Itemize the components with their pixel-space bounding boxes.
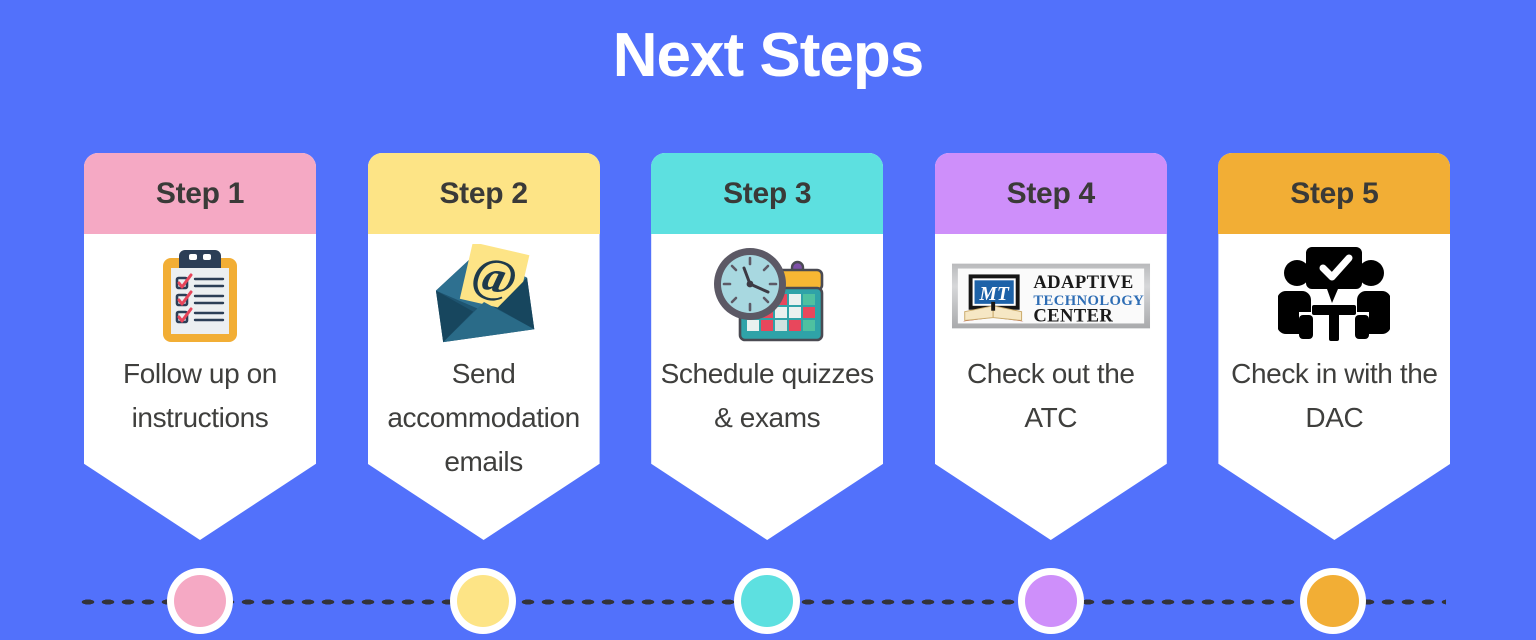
card-caption: Schedule quizzes & exams bbox=[659, 352, 875, 440]
icon-slot: MT ADAPTIVE TECHNOLOGY CENTER bbox=[951, 244, 1151, 348]
timeline-dot-fill bbox=[457, 575, 509, 627]
step-card-1[interactable]: Step 1 bbox=[84, 153, 316, 543]
step-card-3[interactable]: Step 3 bbox=[651, 153, 883, 543]
card-body-3: Schedule quizzes & exams bbox=[651, 234, 883, 440]
adaptive-technology-center-logo: MT ADAPTIVE TECHNOLOGY CENTER bbox=[951, 262, 1151, 330]
step-label: Step 2 bbox=[439, 177, 527, 211]
step-label: Step 4 bbox=[1007, 177, 1095, 211]
timeline-dot-fill bbox=[741, 575, 793, 627]
logo-line-1: ADAPTIVE bbox=[1033, 272, 1133, 293]
card-header-2: Step 2 bbox=[368, 153, 600, 234]
card-header-3: Step 3 bbox=[651, 153, 883, 234]
card-header-1: Step 1 bbox=[84, 153, 316, 234]
timeline bbox=[0, 560, 1536, 640]
svg-text:MT: MT bbox=[978, 284, 1009, 305]
icon-slot bbox=[100, 244, 300, 348]
step-card-5[interactable]: Step 5 bbox=[1218, 153, 1450, 543]
logo-line-3: CENTER bbox=[1033, 305, 1113, 326]
card-caption: Check in with the DAC bbox=[1226, 352, 1442, 440]
step-card-2[interactable]: Step 2 @ bbox=[368, 153, 600, 543]
clipboard-checklist-icon bbox=[157, 246, 243, 346]
card-header-5: Step 5 bbox=[1218, 153, 1450, 234]
step-label: Step 3 bbox=[723, 177, 811, 211]
card-caption: Follow up on instructions bbox=[92, 352, 308, 440]
timeline-dot-3[interactable] bbox=[734, 568, 800, 634]
card-body-5: Check in with the DAC bbox=[1218, 234, 1450, 440]
timeline-dot-5[interactable] bbox=[1300, 568, 1366, 634]
timeline-dot-2[interactable] bbox=[450, 568, 516, 634]
icon-slot: @ bbox=[384, 244, 584, 348]
meeting-checkmark-icon bbox=[1278, 245, 1390, 347]
card-caption: Check out the ATC bbox=[943, 352, 1159, 440]
card-caption: Send accommodation emails bbox=[376, 352, 592, 484]
timeline-dot-fill bbox=[174, 575, 226, 627]
step-label: Step 5 bbox=[1290, 177, 1378, 211]
card-body-2: @ Send accommodation emails bbox=[368, 234, 600, 484]
timeline-dot-4[interactable] bbox=[1018, 568, 1084, 634]
step-label: Step 1 bbox=[156, 177, 244, 211]
email-envelope-at-icon: @ bbox=[424, 244, 544, 348]
clock-calendar-icon bbox=[704, 244, 830, 348]
steps-row: Step 1 bbox=[84, 153, 1450, 543]
card-body-1: Follow up on instructions bbox=[84, 234, 316, 440]
timeline-dot-fill bbox=[1307, 575, 1359, 627]
timeline-dot-1[interactable] bbox=[167, 568, 233, 634]
card-body-4: MT ADAPTIVE TECHNOLOGY CENTER Check out … bbox=[935, 234, 1167, 440]
step-card-4[interactable]: Step 4 bbox=[935, 153, 1167, 543]
timeline-dot-fill bbox=[1025, 575, 1077, 627]
icon-slot bbox=[1234, 244, 1434, 348]
page-title: Next Steps bbox=[0, 8, 1536, 104]
card-header-4: Step 4 bbox=[935, 153, 1167, 234]
icon-slot bbox=[667, 244, 867, 348]
